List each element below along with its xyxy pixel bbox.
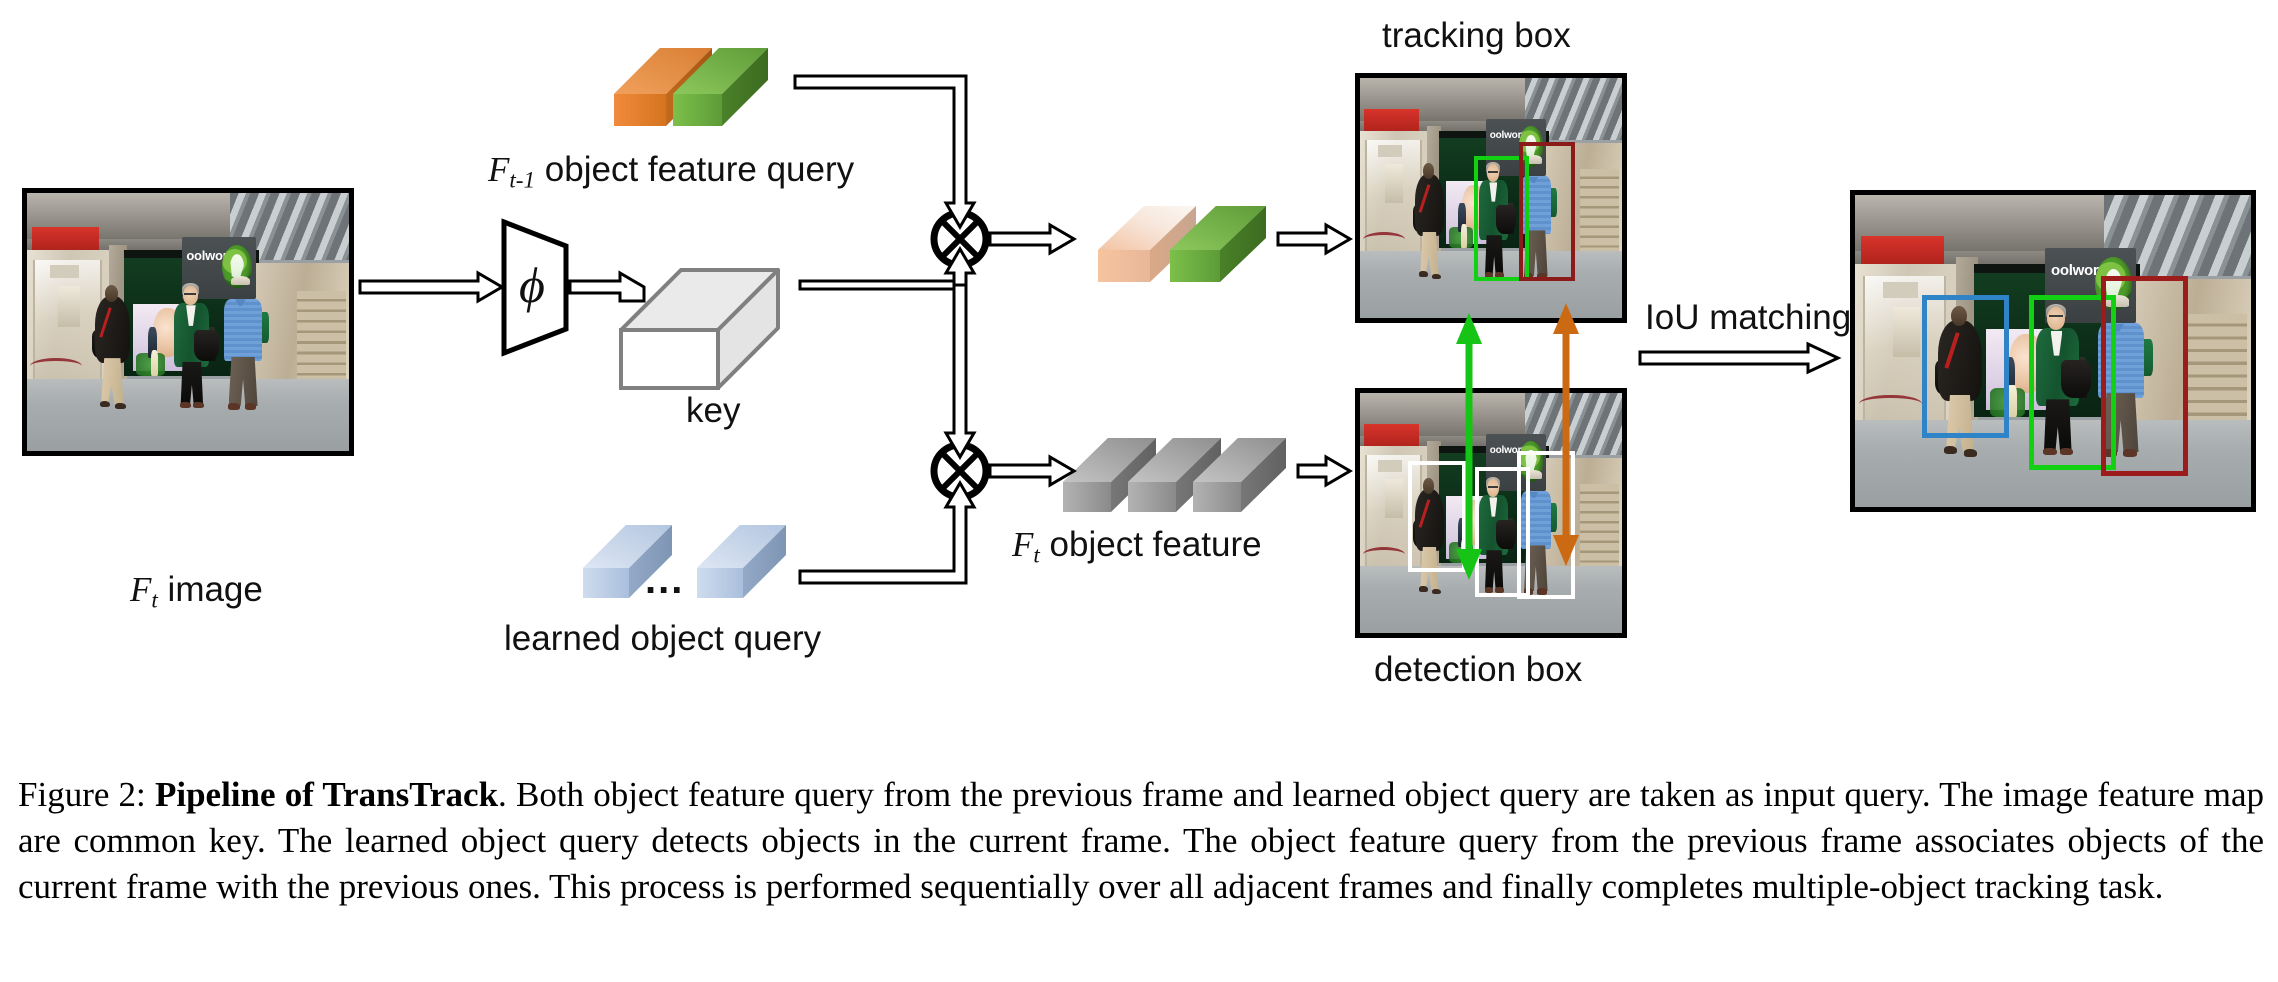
learned-object-query-label: learned object query xyxy=(504,621,821,656)
symbol-F: F xyxy=(130,570,151,609)
curr-object-feature-label-text: object feature xyxy=(1040,525,1262,564)
arrow-encoder-to-key xyxy=(570,273,644,301)
curr-object-feature-label: Ft object feature xyxy=(1012,527,1262,567)
subscript-t-minus-1: t-1 xyxy=(509,166,535,192)
arrow-iou-matching xyxy=(1640,344,1838,372)
arrow-multiply-to-object-features xyxy=(990,457,1074,485)
ellipsis-between-query-bars: ... xyxy=(645,560,684,600)
figure-2-transtrack-pipeline: oolworths oolworths xyxy=(0,0,2278,982)
caption-number: Figure 2: xyxy=(18,775,146,814)
tracking-box-label: tracking box xyxy=(1382,18,1571,53)
prev-query-label-text: object feature query xyxy=(535,150,854,189)
learned-query-bar-2 xyxy=(697,525,786,598)
input-image-label: Ft image xyxy=(130,572,263,612)
key-label: key xyxy=(686,393,740,428)
figure-caption: Figure 2: Pipeline of TransTrack. Both o… xyxy=(18,772,2264,911)
detection-box-label: detection box xyxy=(1374,652,1582,687)
arrow-multiply-to-output-features xyxy=(990,225,1074,253)
encoder-phi-label: ϕ xyxy=(519,260,545,310)
arrow-output-to-tracking-photo xyxy=(1278,225,1350,253)
symbol-F: F xyxy=(488,150,509,189)
caption-title: Pipeline of TransTrack xyxy=(155,775,498,814)
arrow-object-features-to-detection-photo xyxy=(1298,457,1350,485)
arrow-key-to-multiplies xyxy=(800,249,974,457)
symbol-F: F xyxy=(1012,525,1033,564)
prev-object-feature-query-label: Ft-1 object feature query xyxy=(488,152,854,192)
link-arrow-orange xyxy=(1553,303,1579,566)
arrow-learned-query-to-multiply xyxy=(800,483,974,583)
iou-matching-label: IoU matching xyxy=(1645,300,1851,335)
link-arrow-green xyxy=(1456,313,1482,580)
arrow-image-to-encoder xyxy=(360,273,502,301)
input-image-label-text: image xyxy=(158,570,263,609)
